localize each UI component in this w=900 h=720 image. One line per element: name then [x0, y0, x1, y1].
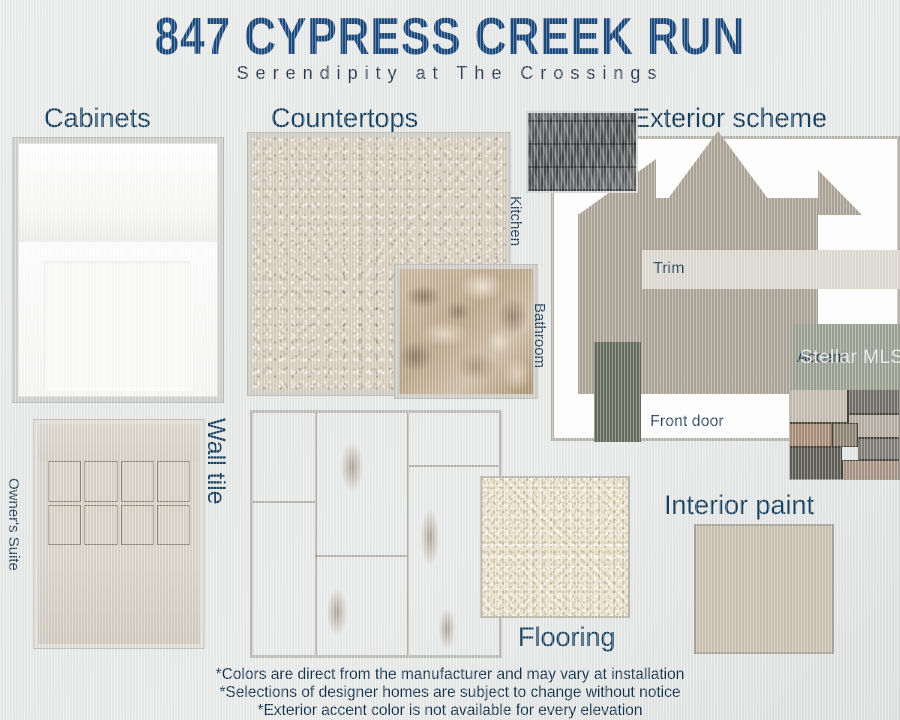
stone-veneer-swatch	[789, 389, 900, 480]
house-gable-right	[818, 170, 862, 215]
exterior-label-front-door: Front door	[650, 413, 724, 431]
roof-shingle-swatch	[526, 111, 638, 193]
carpet-swatch	[480, 476, 630, 618]
section-title-exterior: Exterior scheme	[632, 103, 827, 134]
selection-board: 847 CYPRESS CREEK RUN Serendipity at The…	[0, 0, 900, 720]
wall-tile-unit	[157, 461, 190, 501]
wall-tile-unit	[121, 505, 154, 545]
white-shaker-cabinet-swatch	[12, 137, 224, 403]
cabinet-drawer-front	[19, 144, 217, 243]
wall-tile-top-band	[38, 424, 200, 461]
wall-tile-unit	[48, 461, 81, 501]
plank-seam	[407, 413, 409, 658]
stone-unit	[842, 460, 900, 480]
disclaimer-line-1: *Colors are direct from the manufacturer…	[0, 665, 900, 684]
wall-tile-unit	[84, 505, 117, 545]
exterior-label-trim: Trim	[653, 260, 684, 278]
countertop-label-bathroom: Bathroom	[531, 303, 548, 368]
bathroom-countertop-swatch	[395, 265, 537, 398]
cabinet-door-front	[19, 242, 217, 396]
disclaimer-line-3: *Exterior accent color is not available …	[0, 701, 900, 720]
stone-unit	[848, 389, 900, 414]
wall-tile-unit	[121, 461, 154, 501]
wall-tile-swatch	[34, 420, 204, 648]
section-title-interior-paint: Interior paint	[664, 490, 814, 521]
wall-tile-unit	[84, 461, 117, 501]
wood-knot	[421, 509, 439, 565]
disclaimer-line-2: *Selections of designer homes are subjec…	[0, 683, 900, 702]
stone-unit	[832, 423, 858, 447]
section-title-cabinets: Cabinets	[44, 103, 151, 134]
wood-knot	[341, 443, 363, 491]
plank-seam	[253, 501, 315, 503]
cabinet-face	[18, 143, 218, 397]
wall-tile-grid	[48, 461, 191, 545]
exterior-front-door-block	[594, 342, 641, 442]
wood-plank-flooring-swatch	[250, 410, 502, 658]
wall-tile-room-label: Owner's Suite	[5, 478, 22, 571]
interior-paint-swatch	[694, 524, 834, 654]
stone-unit	[789, 389, 848, 423]
page-title: 847 CYPRESS CREEK RUN	[0, 8, 900, 67]
wall-tile-unit	[157, 505, 190, 545]
stone-unit	[789, 423, 832, 447]
plank-seam	[409, 465, 502, 467]
page-subtitle: Serendipity at The Crossings	[0, 63, 900, 84]
wall-tile-bottom-band	[38, 545, 200, 644]
countertop-label-kitchen: Kitchen	[507, 196, 524, 246]
stone-unit	[789, 447, 842, 480]
plank-seam	[315, 555, 407, 557]
stone-unit	[858, 438, 900, 460]
section-title-wall-tile: Wall tile	[201, 418, 230, 505]
wood-knot	[327, 589, 347, 635]
mls-watermark: Stellar MLS	[800, 347, 900, 369]
section-title-countertops: Countertops	[271, 103, 418, 134]
plank-seam	[315, 413, 317, 658]
wall-tile-unit	[48, 505, 81, 545]
wood-knot	[439, 609, 455, 649]
section-title-flooring: Flooring	[518, 622, 616, 653]
